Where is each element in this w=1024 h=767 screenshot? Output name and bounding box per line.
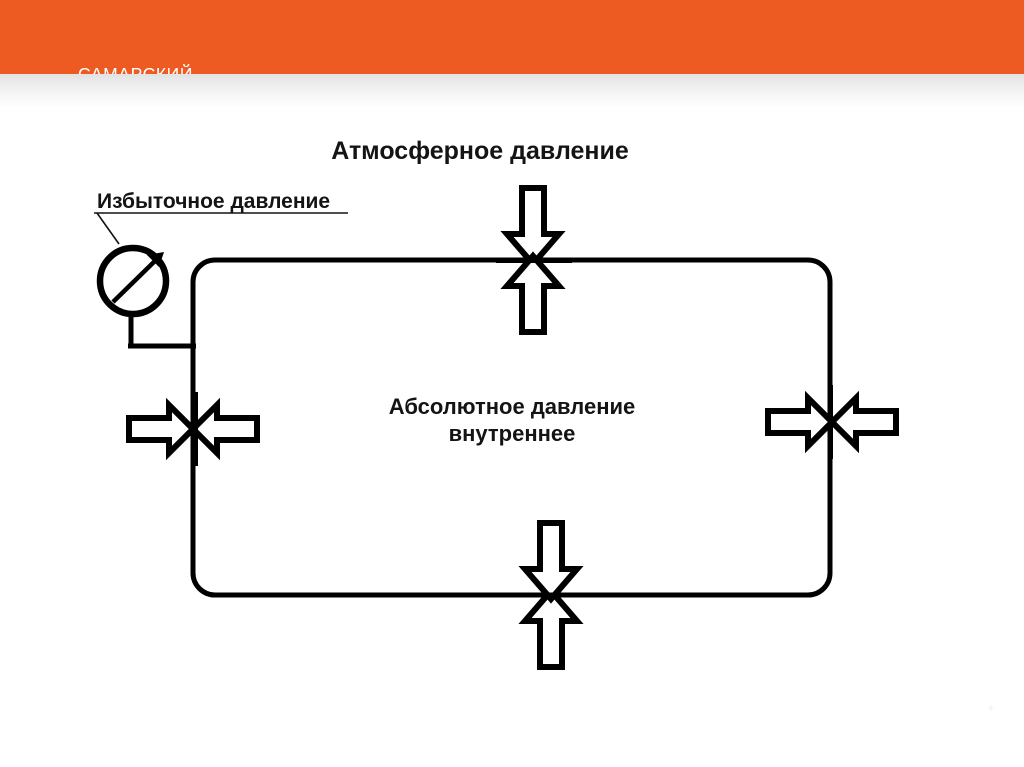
arrow-right-outer-left — [832, 398, 896, 446]
arrow-left-inner-left — [193, 405, 257, 453]
pressure-diagram: Атмосферное давление Избыточное давление… — [0, 74, 1024, 767]
slide-body: Атмосферное давление Избыточное давление… — [0, 74, 1024, 767]
corner-mark: + — [984, 701, 998, 715]
gauge-label: Избыточное давление — [97, 190, 330, 213]
pressure-gauge-icon — [100, 248, 196, 347]
arrow-left-outer-right — [129, 405, 193, 453]
organization-title: САМАРСКИЙ УЧЕБНО-КУРСОВОЙ КОМБИНАТ — [78, 12, 367, 74]
arrow-right-inner-right — [768, 398, 832, 446]
arrow-top-inner-up — [507, 256, 559, 332]
vessel-label-line-2: внутреннее — [449, 421, 576, 446]
gauge-leader-line — [97, 213, 119, 244]
vessel-label-line-1: Абсолютное давление — [389, 394, 636, 419]
slide: САМАРСКИЙ УЧЕБНО-КУРСОВОЙ КОМБИНАТ Атмос… — [0, 0, 1024, 767]
slide-header: САМАРСКИЙ УЧЕБНО-КУРСОВОЙ КОМБИНАТ — [0, 0, 1024, 74]
organization-title-line-1: САМАРСКИЙ — [78, 62, 367, 74]
arrow-bottom-inner-down — [525, 523, 577, 599]
diagram-title: Атмосферное давление — [331, 137, 629, 165]
